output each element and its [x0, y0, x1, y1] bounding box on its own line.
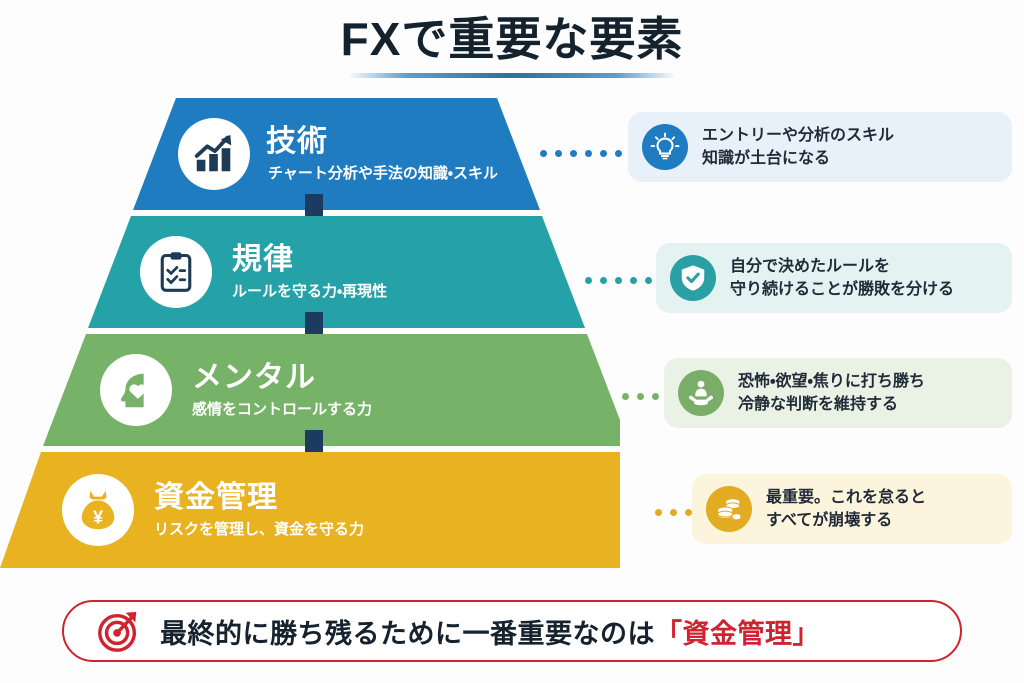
callout-technique-line2: 知識が土台になる: [702, 147, 894, 170]
meditation-badge: [678, 370, 724, 416]
coin-stack-icon: [714, 494, 744, 524]
layer-1-title: 技術: [266, 125, 498, 160]
callout-discipline-line2: 守り続けることが勝敗を分ける: [730, 278, 954, 301]
growth-bar-chart-badge: [178, 118, 250, 190]
growth-bar-chart-icon: [191, 131, 237, 177]
callout-money-line1: 最重要。これを怠ると: [766, 486, 926, 509]
clipboard-checklist-badge: [140, 236, 212, 308]
money-bag-yen-badge: ¥: [62, 474, 134, 546]
title-underline: [347, 73, 677, 78]
callout-mental-line2: 冷静な判断を維持する: [738, 393, 925, 416]
layer-3-title: メンタル: [192, 361, 372, 396]
callout-mental[interactable]: 恐怖・欲望・焦りに打ち勝ち 冷静な判断を維持する: [664, 358, 1012, 428]
layer-2-subtitle: ルールを守る力・再現性: [232, 282, 387, 302]
layer-4-subtitle: リスクを管理し、資金を守る力: [154, 520, 364, 540]
callout-discipline-text: 自分で決めたルールを 守り続けることが勝敗を分ける: [730, 255, 954, 301]
callout-technique-line1: エントリーや分析のスキル: [702, 124, 894, 147]
meditation-icon: [686, 378, 716, 408]
clipboard-checklist-icon: [154, 250, 198, 294]
head-heart-icon: [113, 367, 159, 413]
callout-technique[interactable]: エントリーや分析のスキル 知識が土台になる: [628, 112, 1012, 182]
callout-mental-line1: 恐怖・欲望・焦りに打ち勝ち: [738, 370, 925, 393]
callout-money[interactable]: 最重要。これを怠ると すべてが崩壊する: [692, 474, 1012, 544]
conclusion-banner[interactable]: 最終的に勝ち残るために一番重要なのは「資金管理」: [62, 600, 962, 662]
callout-money-line2: すべてが崩壊する: [766, 509, 926, 532]
target-dart-icon: [96, 608, 142, 654]
callout-technique-text: エントリーや分析のスキル 知識が土台になる: [702, 124, 894, 170]
conclusion-highlight: 「資金管理」: [655, 619, 820, 649]
page-title-block: FXで重要な要素: [0, 14, 1024, 78]
conclusion-prefix: 最終的に勝ち残るために一番重要なのは: [160, 619, 655, 649]
callout-discipline[interactable]: 自分で決めたルールを 守り続けることが勝敗を分ける: [656, 243, 1012, 313]
layer-1-subtitle: チャート分析や手法の知識・スキル: [268, 164, 498, 184]
layer-2-title: 規律: [232, 243, 387, 278]
money-bag-yen-icon: ¥: [75, 487, 121, 533]
head-heart-badge: [100, 354, 172, 426]
layer-4-title: 資金管理: [154, 481, 364, 516]
lightbulb-icon: [650, 132, 680, 162]
coin-stack-badge: [706, 486, 752, 532]
callout-discipline-line1: 自分で決めたルールを: [730, 255, 954, 278]
layer-3-subtitle: 感情をコントロールする力: [192, 400, 372, 420]
pyramid-layer-money-management[interactable]: ¥ 資金管理 リスクを管理し、資金を守る力: [0, 452, 620, 568]
page-title: FXで重要な要素: [0, 14, 1024, 65]
svg-text:¥: ¥: [93, 507, 104, 527]
connector-dots-discipline: [585, 277, 667, 284]
infographic-canvas: FXで重要な要素 技術: [0, 0, 1024, 683]
shield-check-badge: [670, 255, 716, 301]
shield-check-icon: [678, 263, 708, 293]
pyramid-diagram: 技術 チャート分析や手法の知識・スキル: [0, 98, 620, 588]
lightbulb-badge: [642, 124, 688, 170]
conclusion-text: 最終的に勝ち残るために一番重要なのは「資金管理」: [160, 612, 820, 651]
callout-mental-text: 恐怖・欲望・焦りに打ち勝ち 冷静な判断を維持する: [738, 370, 925, 416]
callout-money-text: 最重要。これを怠ると すべてが崩壊する: [766, 486, 926, 532]
